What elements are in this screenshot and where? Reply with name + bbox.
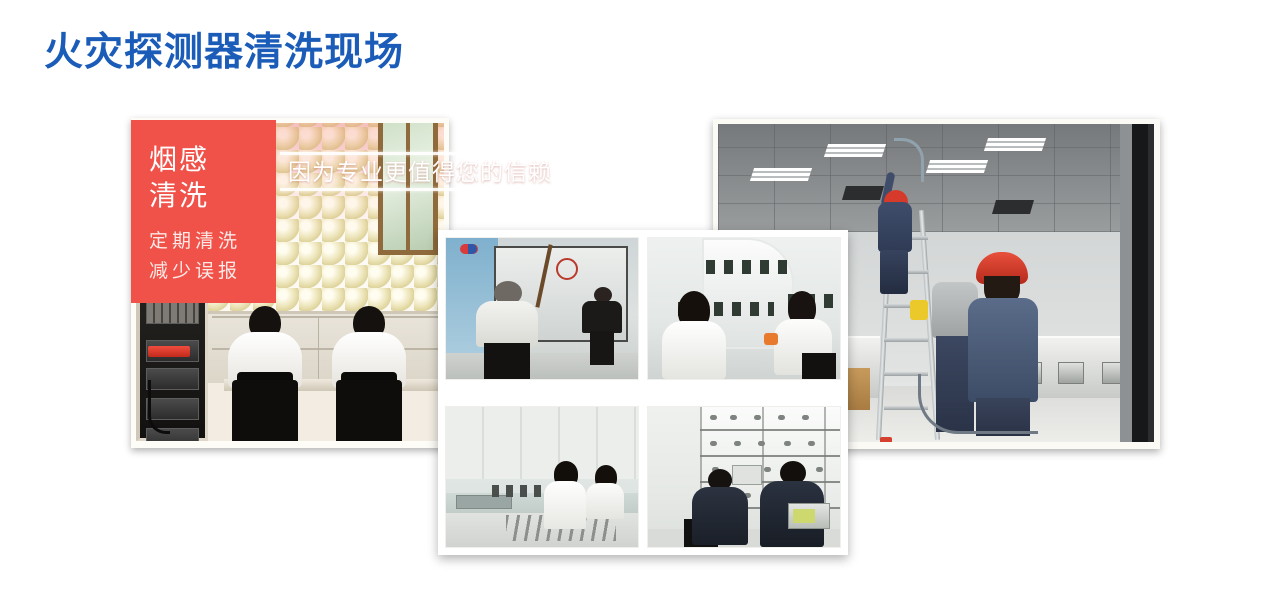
collage-photo-d xyxy=(647,406,841,548)
wooden-chair xyxy=(848,368,870,410)
door-column xyxy=(1120,124,1154,442)
air-hose xyxy=(918,374,1038,434)
worker-on-ladder xyxy=(868,166,914,294)
photo-collage: 因为专业更值得您的信赖 烟感 清洗 定期清洗 减少误报 xyxy=(0,0,1280,615)
collage-grid-card xyxy=(438,230,848,555)
promo-badge: 烟感 清洗 定期清洗 减少误报 xyxy=(131,120,276,303)
badge-sub-line2: 减少误报 xyxy=(149,258,276,287)
technician xyxy=(332,306,406,441)
collage-grid xyxy=(445,237,841,548)
wall-logo xyxy=(460,244,478,254)
yellow-tool xyxy=(910,300,928,320)
badge-heading-line2: 清洗 xyxy=(149,178,276,214)
badge-heading-line1: 烟感 xyxy=(149,142,276,178)
collage-photo-a xyxy=(445,237,639,380)
technician xyxy=(228,306,302,441)
badge-sub-line1: 定期清洗 xyxy=(149,228,276,257)
window xyxy=(378,123,438,255)
collage-photo-c xyxy=(445,406,639,548)
collage-photo-b xyxy=(647,237,841,380)
equipment-rack xyxy=(136,293,208,441)
